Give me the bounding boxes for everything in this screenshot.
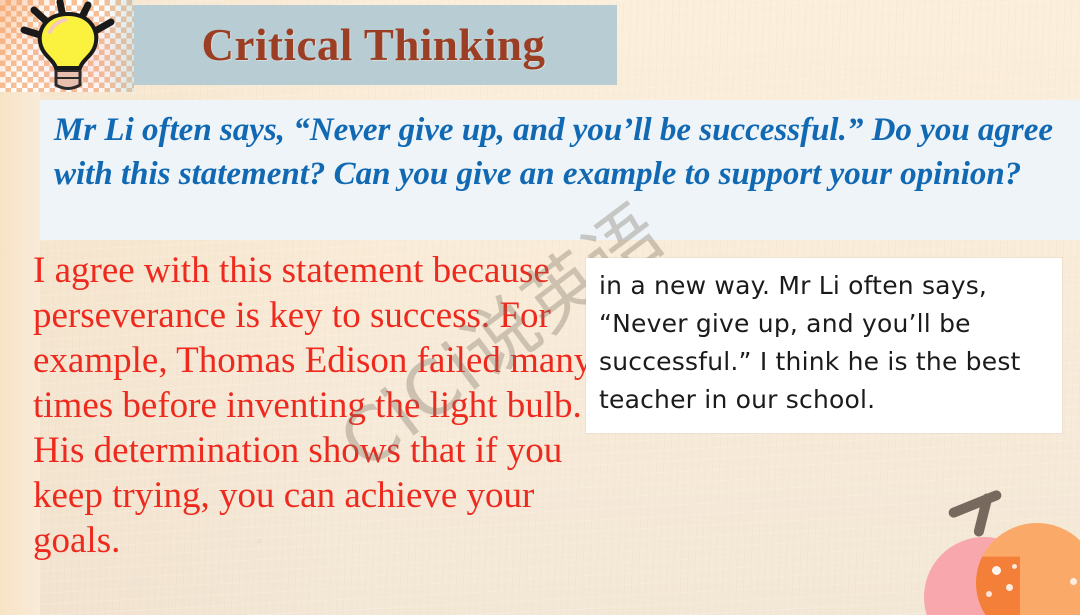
slide-header: Critical Thinking	[0, 0, 620, 90]
pink-fruit-shape	[924, 537, 1044, 615]
fruit-highlight-dot	[1012, 564, 1017, 569]
fruit-highlight-dot	[1006, 584, 1013, 591]
title-band: Critical Thinking	[130, 5, 617, 85]
question-panel: Mr Li often says, “Never give up, and yo…	[40, 100, 1080, 240]
slide-canvas: Critical Thinking	[0, 0, 1080, 615]
lightbulb-icon	[10, 0, 126, 92]
orange-fruit-shape	[976, 523, 1080, 615]
lightbulb-icon-tile	[0, 0, 134, 92]
fruit-stem-icon	[973, 492, 993, 537]
fruit-leaf-icon	[947, 489, 1003, 519]
question-text: Mr Li often says, “Never give up, and yo…	[54, 108, 1066, 196]
fruit-highlight-dot	[986, 591, 992, 597]
orange-fruit-shadow	[976, 523, 1080, 615]
page-title: Critical Thinking	[201, 19, 545, 71]
fruit-highlight-dot	[1070, 578, 1077, 585]
note-box: in a new way. Mr Li often says, “Never g…	[586, 258, 1062, 433]
fruit-decoration	[920, 445, 1080, 615]
answer-text: I agree with this statement because pers…	[33, 248, 593, 563]
yellow-fruit-shape	[1062, 561, 1080, 615]
fruit-highlight-dot	[992, 566, 1001, 575]
note-box-text: in a new way. Mr Li often says, “Never g…	[599, 267, 1050, 419]
